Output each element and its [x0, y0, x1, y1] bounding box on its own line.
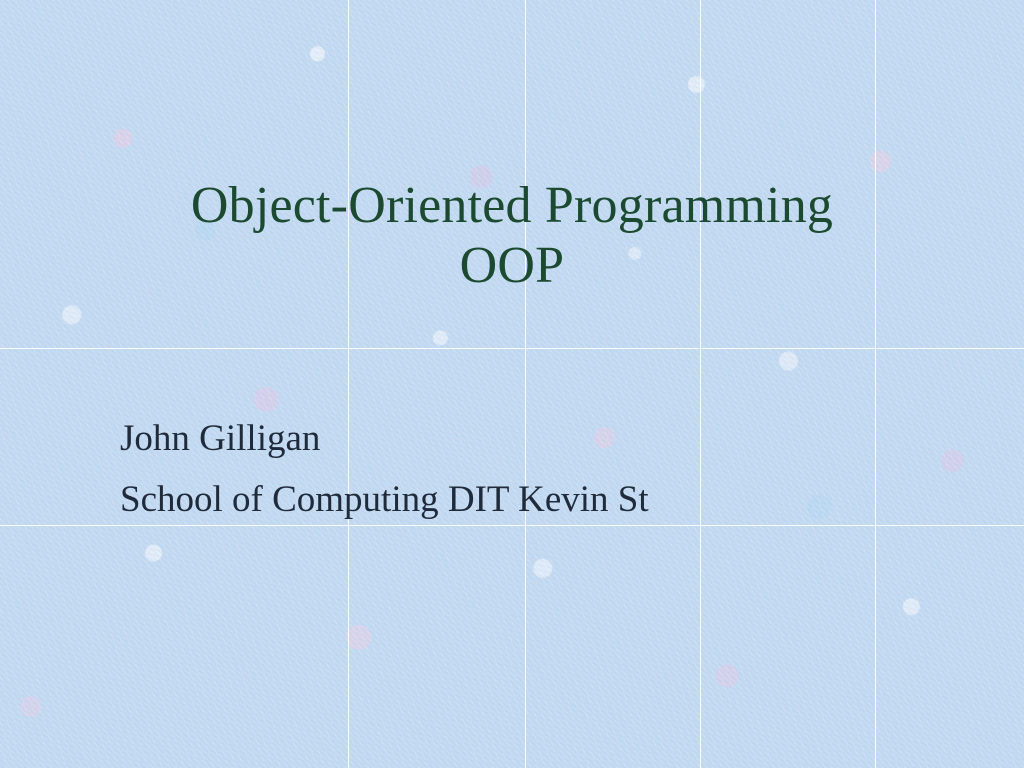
- slide-title-line-2: OOP: [72, 236, 952, 296]
- slide-title: Object-Oriented Programming OOP: [72, 176, 952, 297]
- slide: Object-Oriented Programming OOP John Gil…: [0, 0, 1024, 768]
- slide-subtitle: John Gilligan School of Computing DIT Ke…: [120, 408, 940, 531]
- author-name: John Gilligan: [120, 408, 940, 469]
- slide-content: Object-Oriented Programming OOP John Gil…: [0, 0, 1024, 768]
- affiliation: School of Computing DIT Kevin St: [120, 469, 940, 530]
- slide-title-line-1: Object-Oriented Programming: [72, 176, 952, 236]
